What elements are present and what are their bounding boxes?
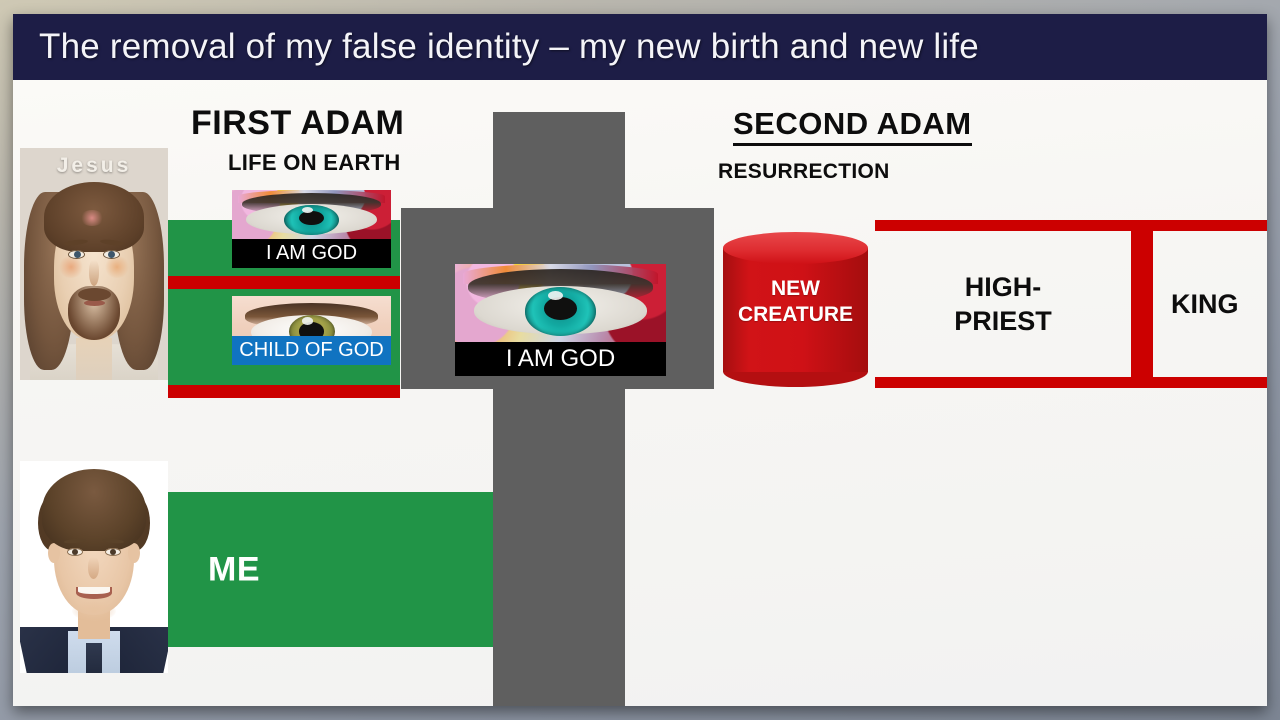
jesus-portrait-label: Jesus bbox=[20, 154, 168, 178]
king-box: KING bbox=[1142, 220, 1267, 388]
red-separator-upper bbox=[168, 276, 400, 289]
me-teeth-shape bbox=[78, 587, 110, 594]
me-pupil-right-shape bbox=[110, 549, 116, 555]
jesus-cheek-right-shape bbox=[104, 256, 130, 278]
high-priest-box: HIGH- PRIEST bbox=[875, 220, 1142, 388]
jesus-cheek-left-shape bbox=[58, 256, 84, 278]
red-separator-lower bbox=[168, 385, 400, 398]
high-priest-label: HIGH- PRIEST bbox=[875, 270, 1131, 338]
high-priest-label-line2: PRIEST bbox=[954, 306, 1052, 336]
jesus-pupil-left-shape bbox=[74, 251, 81, 258]
caption-child-of-god: CHILD OF GOD bbox=[232, 336, 391, 365]
page-title: The removal of my false identity – my ne… bbox=[39, 27, 979, 67]
jesus-moustache-shape bbox=[78, 288, 111, 301]
jesus-portrait: Jesus bbox=[20, 148, 168, 380]
me-chin-shape bbox=[72, 601, 116, 621]
rainbow-eye-icon bbox=[232, 190, 391, 239]
eye-glint-shape bbox=[302, 207, 313, 213]
rainbow-eye-icon bbox=[455, 264, 666, 342]
jesus-pupil-right-shape bbox=[108, 251, 115, 258]
subheading-resurrection: RESURRECTION bbox=[718, 160, 890, 184]
cylinder-top-shape bbox=[723, 232, 868, 264]
me-ear-right-shape bbox=[128, 543, 140, 563]
me-label: ME bbox=[208, 550, 260, 589]
new-creature-label: NEW CREATURE bbox=[723, 276, 868, 328]
green-bar-me: ME bbox=[168, 492, 493, 647]
jesus-nose-shape bbox=[89, 260, 99, 286]
jesus-neck-shape bbox=[76, 338, 112, 380]
high-priest-label-line1: HIGH- bbox=[965, 272, 1042, 302]
me-portrait bbox=[20, 461, 168, 673]
eye-glint-shape bbox=[302, 317, 313, 324]
me-hair-top-shape bbox=[42, 469, 146, 551]
cross-icon bbox=[493, 112, 625, 706]
king-label: KING bbox=[1153, 287, 1267, 321]
subheading-life-on-earth: LIFE ON EARTH bbox=[228, 150, 401, 176]
eye-tile-cross-i-am-god: I AM GOD bbox=[455, 264, 666, 342]
new-creature-cylinder: NEW CREATURE bbox=[723, 232, 868, 387]
heading-first-adam: FIRST ADAM bbox=[191, 104, 404, 143]
heading-second-adam: SECOND ADAM bbox=[733, 106, 972, 146]
eye-tile-child-of-god: CHILD OF GOD bbox=[232, 296, 391, 358]
caption-i-am-god: I AM GOD bbox=[232, 239, 391, 268]
slide: The removal of my false identity – my ne… bbox=[13, 14, 1267, 706]
slide-title-bar: The removal of my false identity – my ne… bbox=[13, 14, 1267, 80]
eye-glint-shape bbox=[548, 291, 563, 300]
me-nose-shape bbox=[88, 557, 99, 579]
me-pupil-left-shape bbox=[72, 549, 78, 555]
new-creature-label-line1: NEW bbox=[771, 277, 820, 300]
me-tie-shape bbox=[86, 643, 102, 673]
new-creature-label-line2: CREATURE bbox=[738, 303, 853, 326]
jesus-forehead-shape bbox=[80, 210, 104, 226]
slide-canvas: FIRST ADAM LIFE ON EARTH SECOND ADAM RES… bbox=[13, 80, 1267, 706]
caption-cross-i-am-god: I AM GOD bbox=[455, 342, 666, 376]
eye-tile-i-am-god: I AM GOD bbox=[232, 190, 391, 239]
